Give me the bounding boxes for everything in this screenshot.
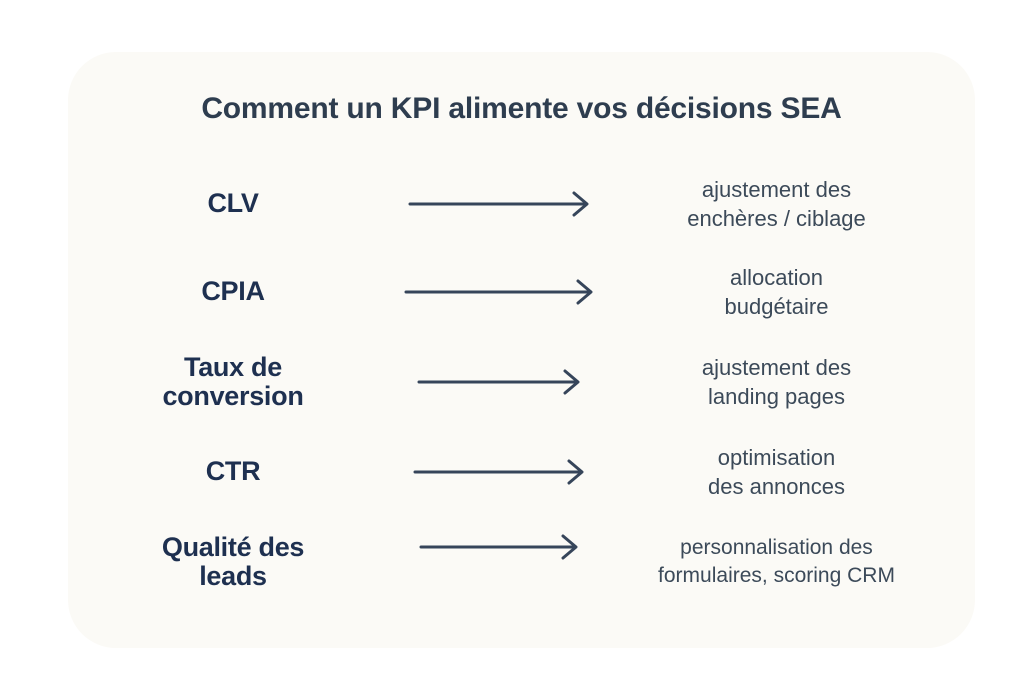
kpi-row: Qualité des leads personnalisation des f… bbox=[68, 516, 975, 608]
right-arrow-icon bbox=[398, 534, 608, 560]
kpi-outcome: ajustement des landing pages bbox=[608, 353, 975, 411]
kpi-label: CPIA bbox=[68, 277, 398, 306]
right-arrow-icon bbox=[398, 279, 608, 305]
kpi-rows-container: CLV ajustement des enchères / ciblage CP… bbox=[68, 160, 975, 608]
right-arrow-icon bbox=[398, 191, 608, 217]
right-arrow-icon bbox=[398, 369, 608, 395]
kpi-row: Taux de conversion ajustement des landin… bbox=[68, 336, 975, 428]
kpi-outcome: ajustement des enchères / ciblage bbox=[608, 175, 975, 233]
page-title: Comment un KPI alimente vos décisions SE… bbox=[68, 92, 975, 126]
right-arrow-icon bbox=[398, 459, 608, 485]
kpi-row: CTR optimisation des annonces bbox=[68, 428, 975, 516]
kpi-row: CPIA allocation budgétaire bbox=[68, 248, 975, 336]
kpi-outcome: optimisation des annonces bbox=[608, 443, 975, 501]
kpi-label: Qualité des leads bbox=[68, 533, 398, 591]
kpi-outcome: personnalisation des formulaires, scorin… bbox=[608, 534, 975, 589]
kpi-label: CTR bbox=[68, 457, 398, 486]
kpi-row: CLV ajustement des enchères / ciblage bbox=[68, 160, 975, 248]
kpi-label: Taux de conversion bbox=[68, 353, 398, 411]
infographic-card: Comment un KPI alimente vos décisions SE… bbox=[68, 52, 975, 648]
kpi-outcome: allocation budgétaire bbox=[608, 263, 975, 321]
kpi-label: CLV bbox=[68, 189, 398, 218]
